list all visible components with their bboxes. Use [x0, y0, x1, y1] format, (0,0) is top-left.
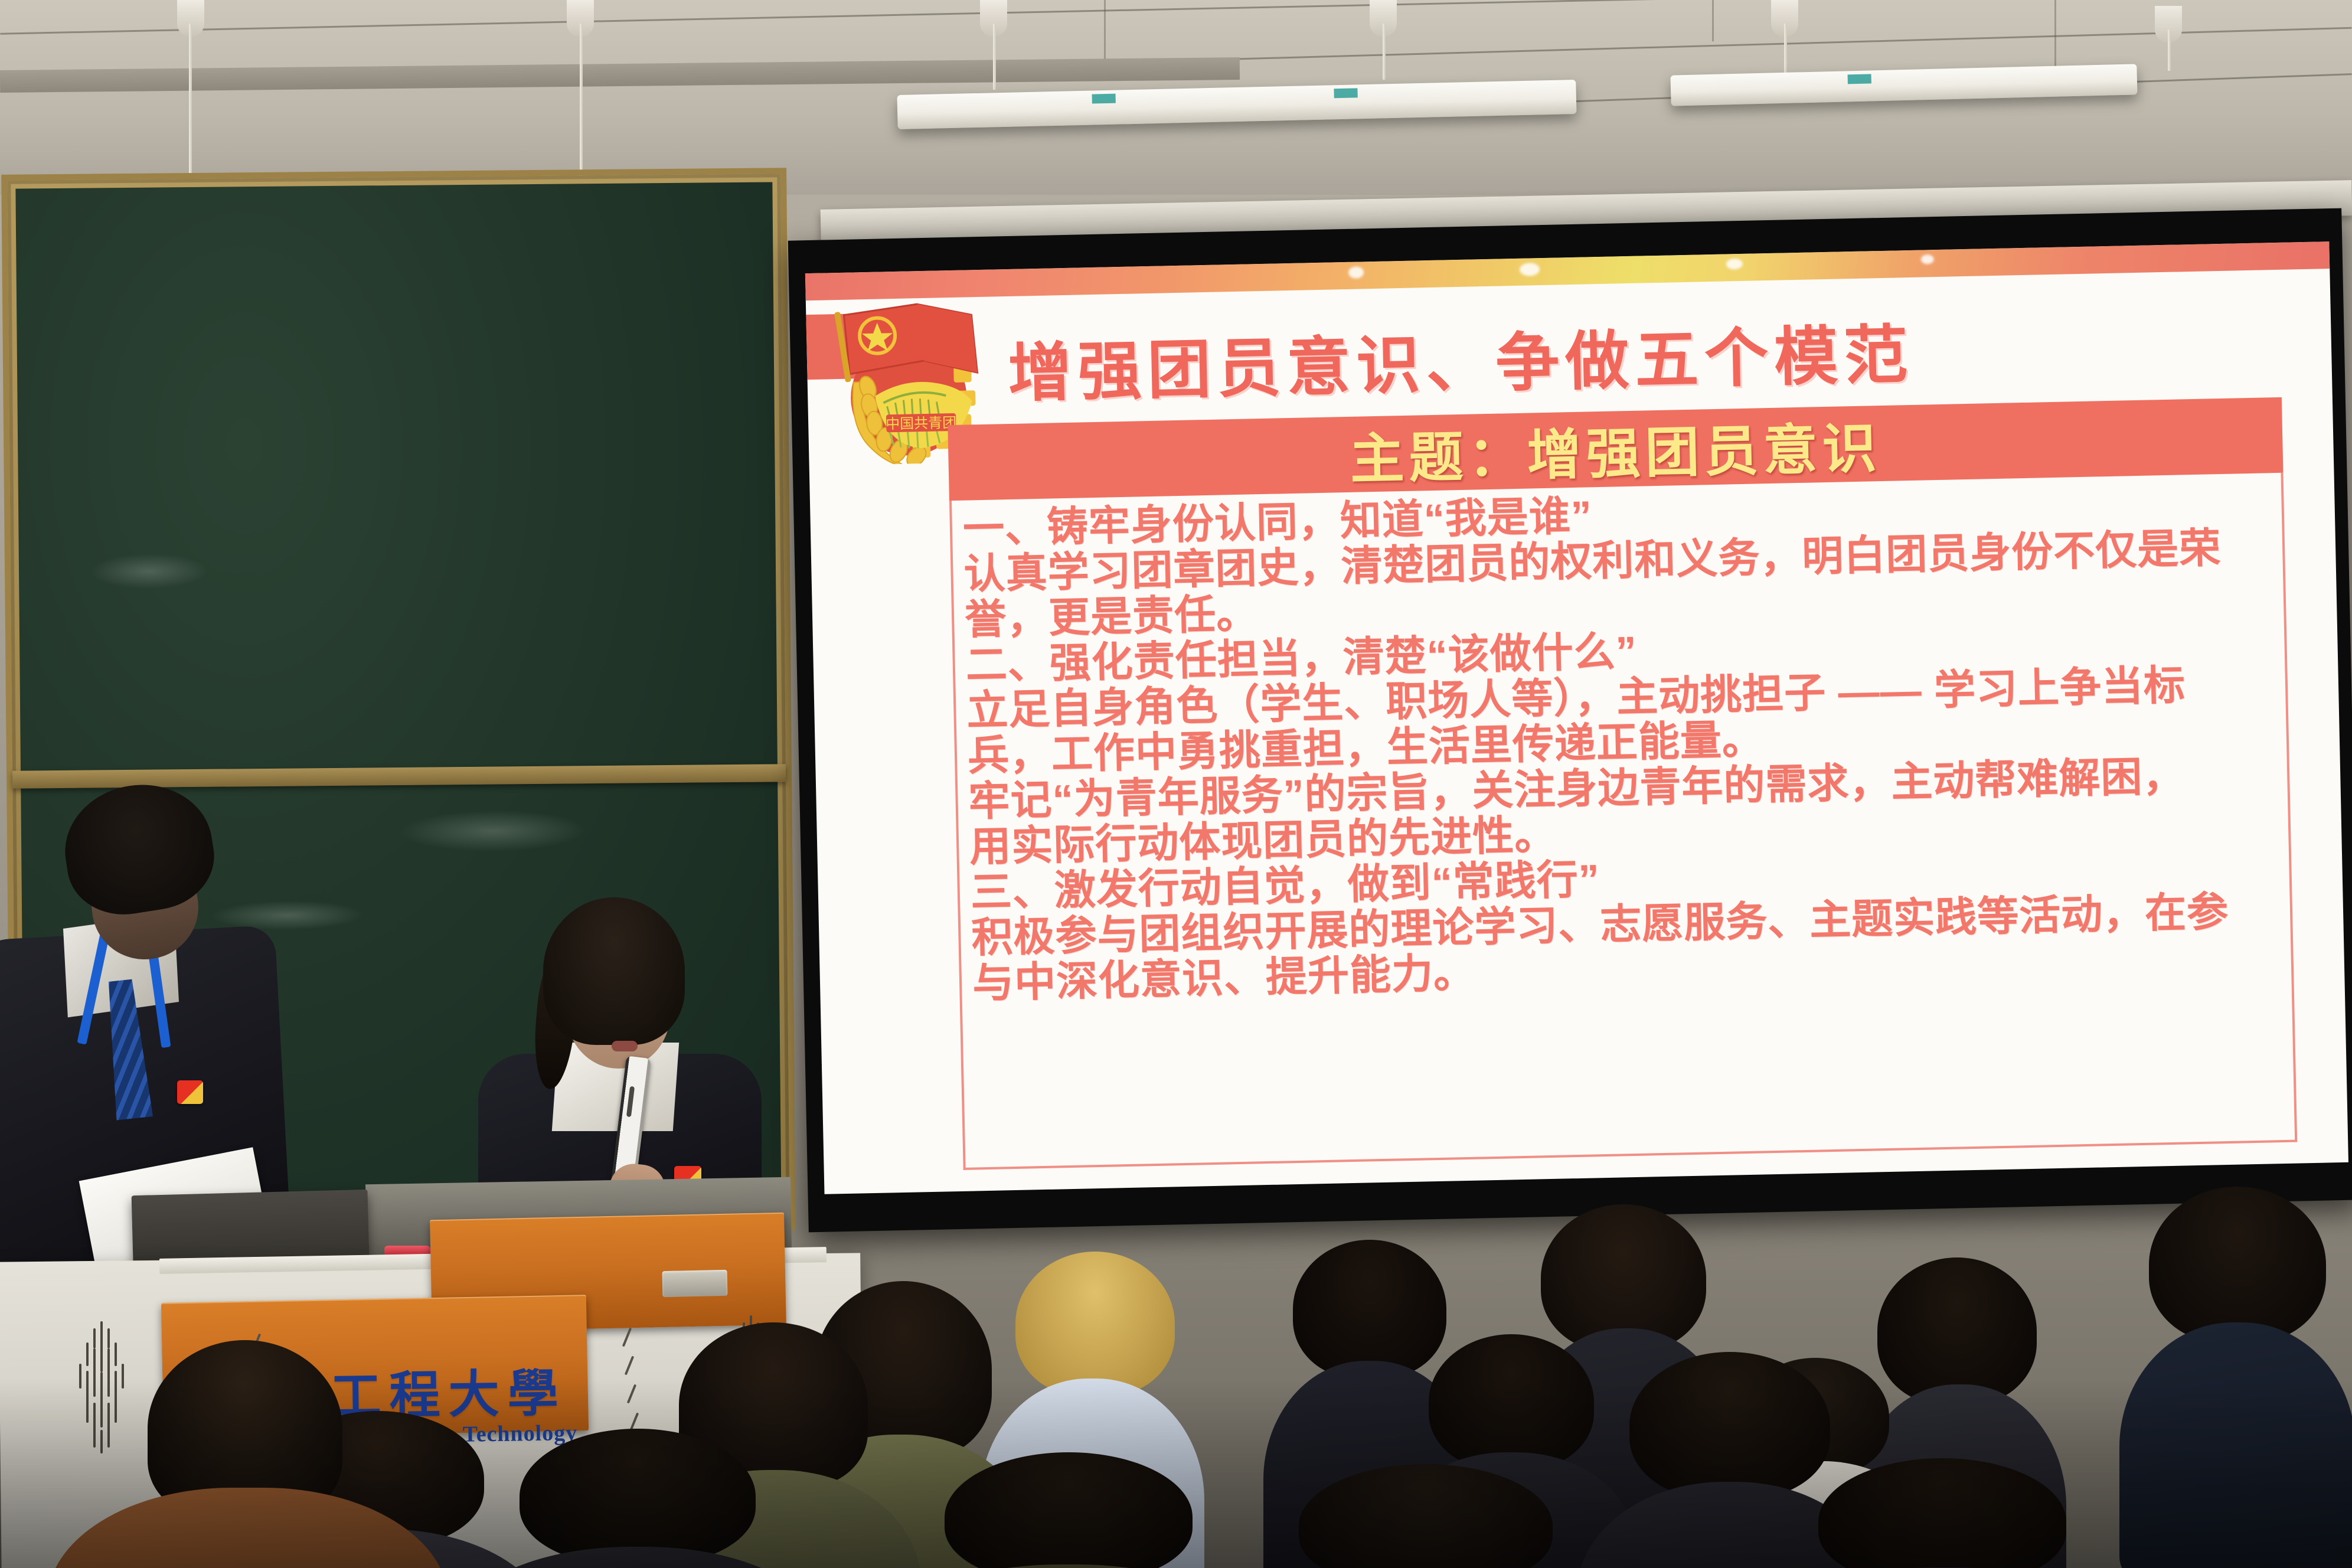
- hair: [1877, 1257, 2037, 1405]
- slide-decorative-band: [805, 241, 2330, 300]
- hair: [1629, 1352, 1830, 1500]
- slide-title: 增强团员意识、争做五个模范: [1007, 295, 2296, 414]
- audience-member-foreground: [59, 1340, 425, 1568]
- projection-screen: 中国共青团 增强团员意识、争做五个模范 主题：增强团员意识 一、铸牢身份认同，知…: [788, 208, 2352, 1233]
- lectern-handle: [662, 1270, 728, 1297]
- lamp-rod: [1784, 24, 1787, 74]
- ceiling-duct: [0, 57, 1240, 93]
- hair: [543, 897, 685, 1045]
- mouth: [612, 1041, 638, 1051]
- audience-member: [520, 1429, 756, 1568]
- band-highlight: [1726, 259, 1743, 270]
- slide-subject-text: 主题：增强团员意识: [1349, 404, 1882, 494]
- male-presenter: [0, 785, 307, 1257]
- hair: [2149, 1187, 2326, 1343]
- hair-blonde: [1015, 1252, 1175, 1396]
- band-highlight: [1921, 254, 1934, 264]
- audience-member: [1299, 1464, 1553, 1568]
- chalk-smudge: [90, 553, 208, 590]
- hair: [1299, 1464, 1553, 1568]
- hair: [945, 1452, 1193, 1568]
- audience-member: [1818, 1458, 2066, 1568]
- hair: [520, 1429, 756, 1564]
- emblem-inscription: 中国共青团: [886, 415, 957, 433]
- lamp-endcap: [1848, 74, 1871, 84]
- lamp-rod: [2168, 30, 2171, 71]
- chalk-smudge: [399, 809, 589, 852]
- audience-member: [2149, 1187, 2326, 1568]
- ceiling-tile-seam: [1104, 0, 1106, 59]
- lamp-endcap: [1092, 94, 1116, 104]
- hair: [1818, 1458, 2066, 1568]
- lamp-rod: [580, 24, 583, 192]
- lamp-rod: [189, 24, 192, 195]
- ceiling-tile-seam: [2054, 0, 2056, 71]
- hair: [1429, 1334, 1594, 1470]
- photograph-scene: KLITE: [0, 0, 2352, 1568]
- audience-member: [1629, 1352, 1830, 1568]
- party-emblem-pin: [177, 1080, 203, 1104]
- torso: [47, 1488, 449, 1568]
- torso: [2119, 1322, 2352, 1568]
- lamp-endcap: [1334, 88, 1357, 98]
- slide-body: 一、铸牢身份认同，知道“我是谁” 认真学习团章团史，清楚团员的权利和义务，明白团…: [949, 473, 2297, 1170]
- band-highlight: [1348, 266, 1364, 279]
- presentation-slide: 中国共青团 增强团员意识、争做五个模范 主题：增强团员意识 一、铸牢身份认同，知…: [805, 241, 2348, 1194]
- ceiling-tile-seam: [0, 0, 2351, 35]
- audience-member: [945, 1452, 1193, 1568]
- lamp-rod: [993, 24, 996, 90]
- band-highlight: [1520, 263, 1540, 276]
- ceiling-tile-seam: [1712, 0, 1714, 41]
- lamp-rod: [1383, 24, 1386, 80]
- hair: [1293, 1240, 1446, 1378]
